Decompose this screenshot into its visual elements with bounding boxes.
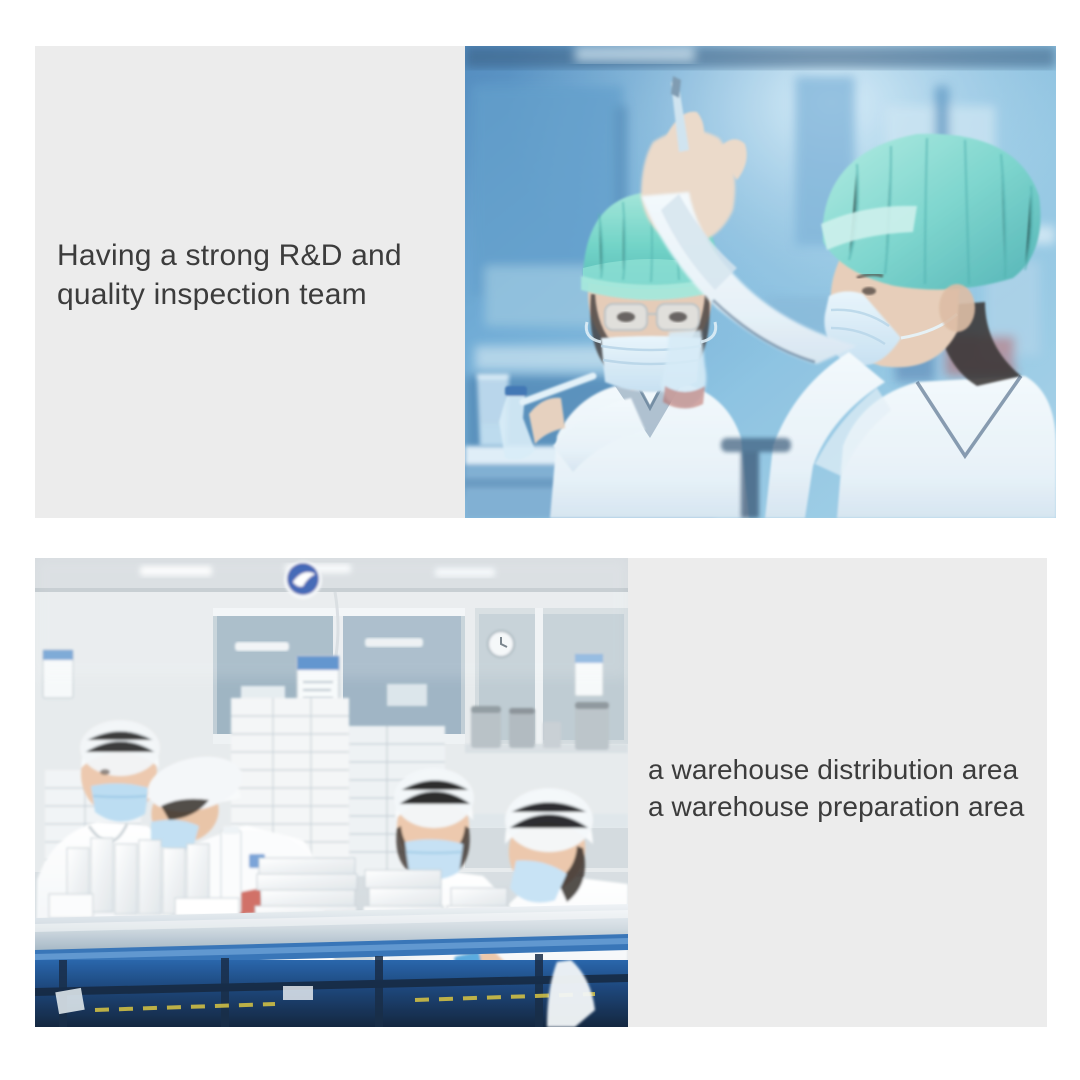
warehouse-packaging-photo xyxy=(35,558,628,1027)
warehouse-photo-graphic xyxy=(35,558,628,1027)
lab-quality-inspection-photo xyxy=(465,46,1056,518)
top-section: Having a strong R&D and quality inspecti… xyxy=(35,46,1056,518)
top-text-panel: Having a strong R&D and quality inspecti… xyxy=(35,46,465,518)
lab-photo-graphic xyxy=(465,46,1056,518)
bottom-text-panel: a warehouse distribution area a warehous… xyxy=(628,558,1047,1027)
bottom-section: a warehouse distribution area a warehous… xyxy=(35,558,1047,1027)
top-caption-text: Having a strong R&D and quality inspecti… xyxy=(57,236,457,314)
bottom-caption-text: a warehouse distribution area a warehous… xyxy=(648,751,1048,825)
